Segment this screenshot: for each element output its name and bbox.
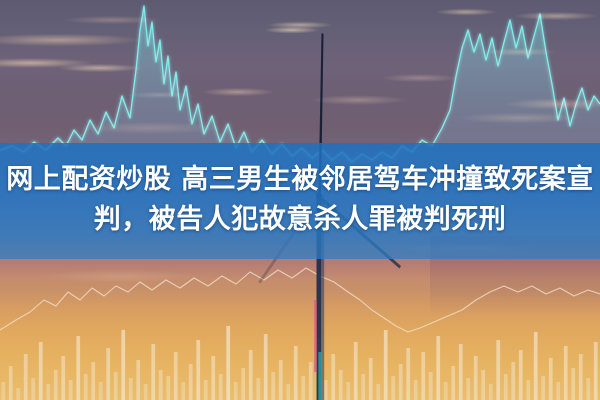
- headline-line-1: 网上配资炒股 高三男生被邻居驾车冲撞致死案宣: [0, 160, 600, 200]
- turbine-accent-teal: [318, 352, 321, 400]
- headline-line-2: 判，被告人犯故意杀人罪被判死刑: [0, 200, 600, 240]
- headline-text: 网上配资炒股 高三男生被邻居驾车冲撞致死案宣 判，被告人犯故意杀人罪被判死刑: [0, 160, 600, 240]
- news-thumbnail-image: 网上配资炒股 高三男生被邻居驾车冲撞致死案宣 判，被告人犯故意杀人罪被判死刑: [0, 0, 600, 400]
- turbine-accent-pink: [314, 300, 317, 372]
